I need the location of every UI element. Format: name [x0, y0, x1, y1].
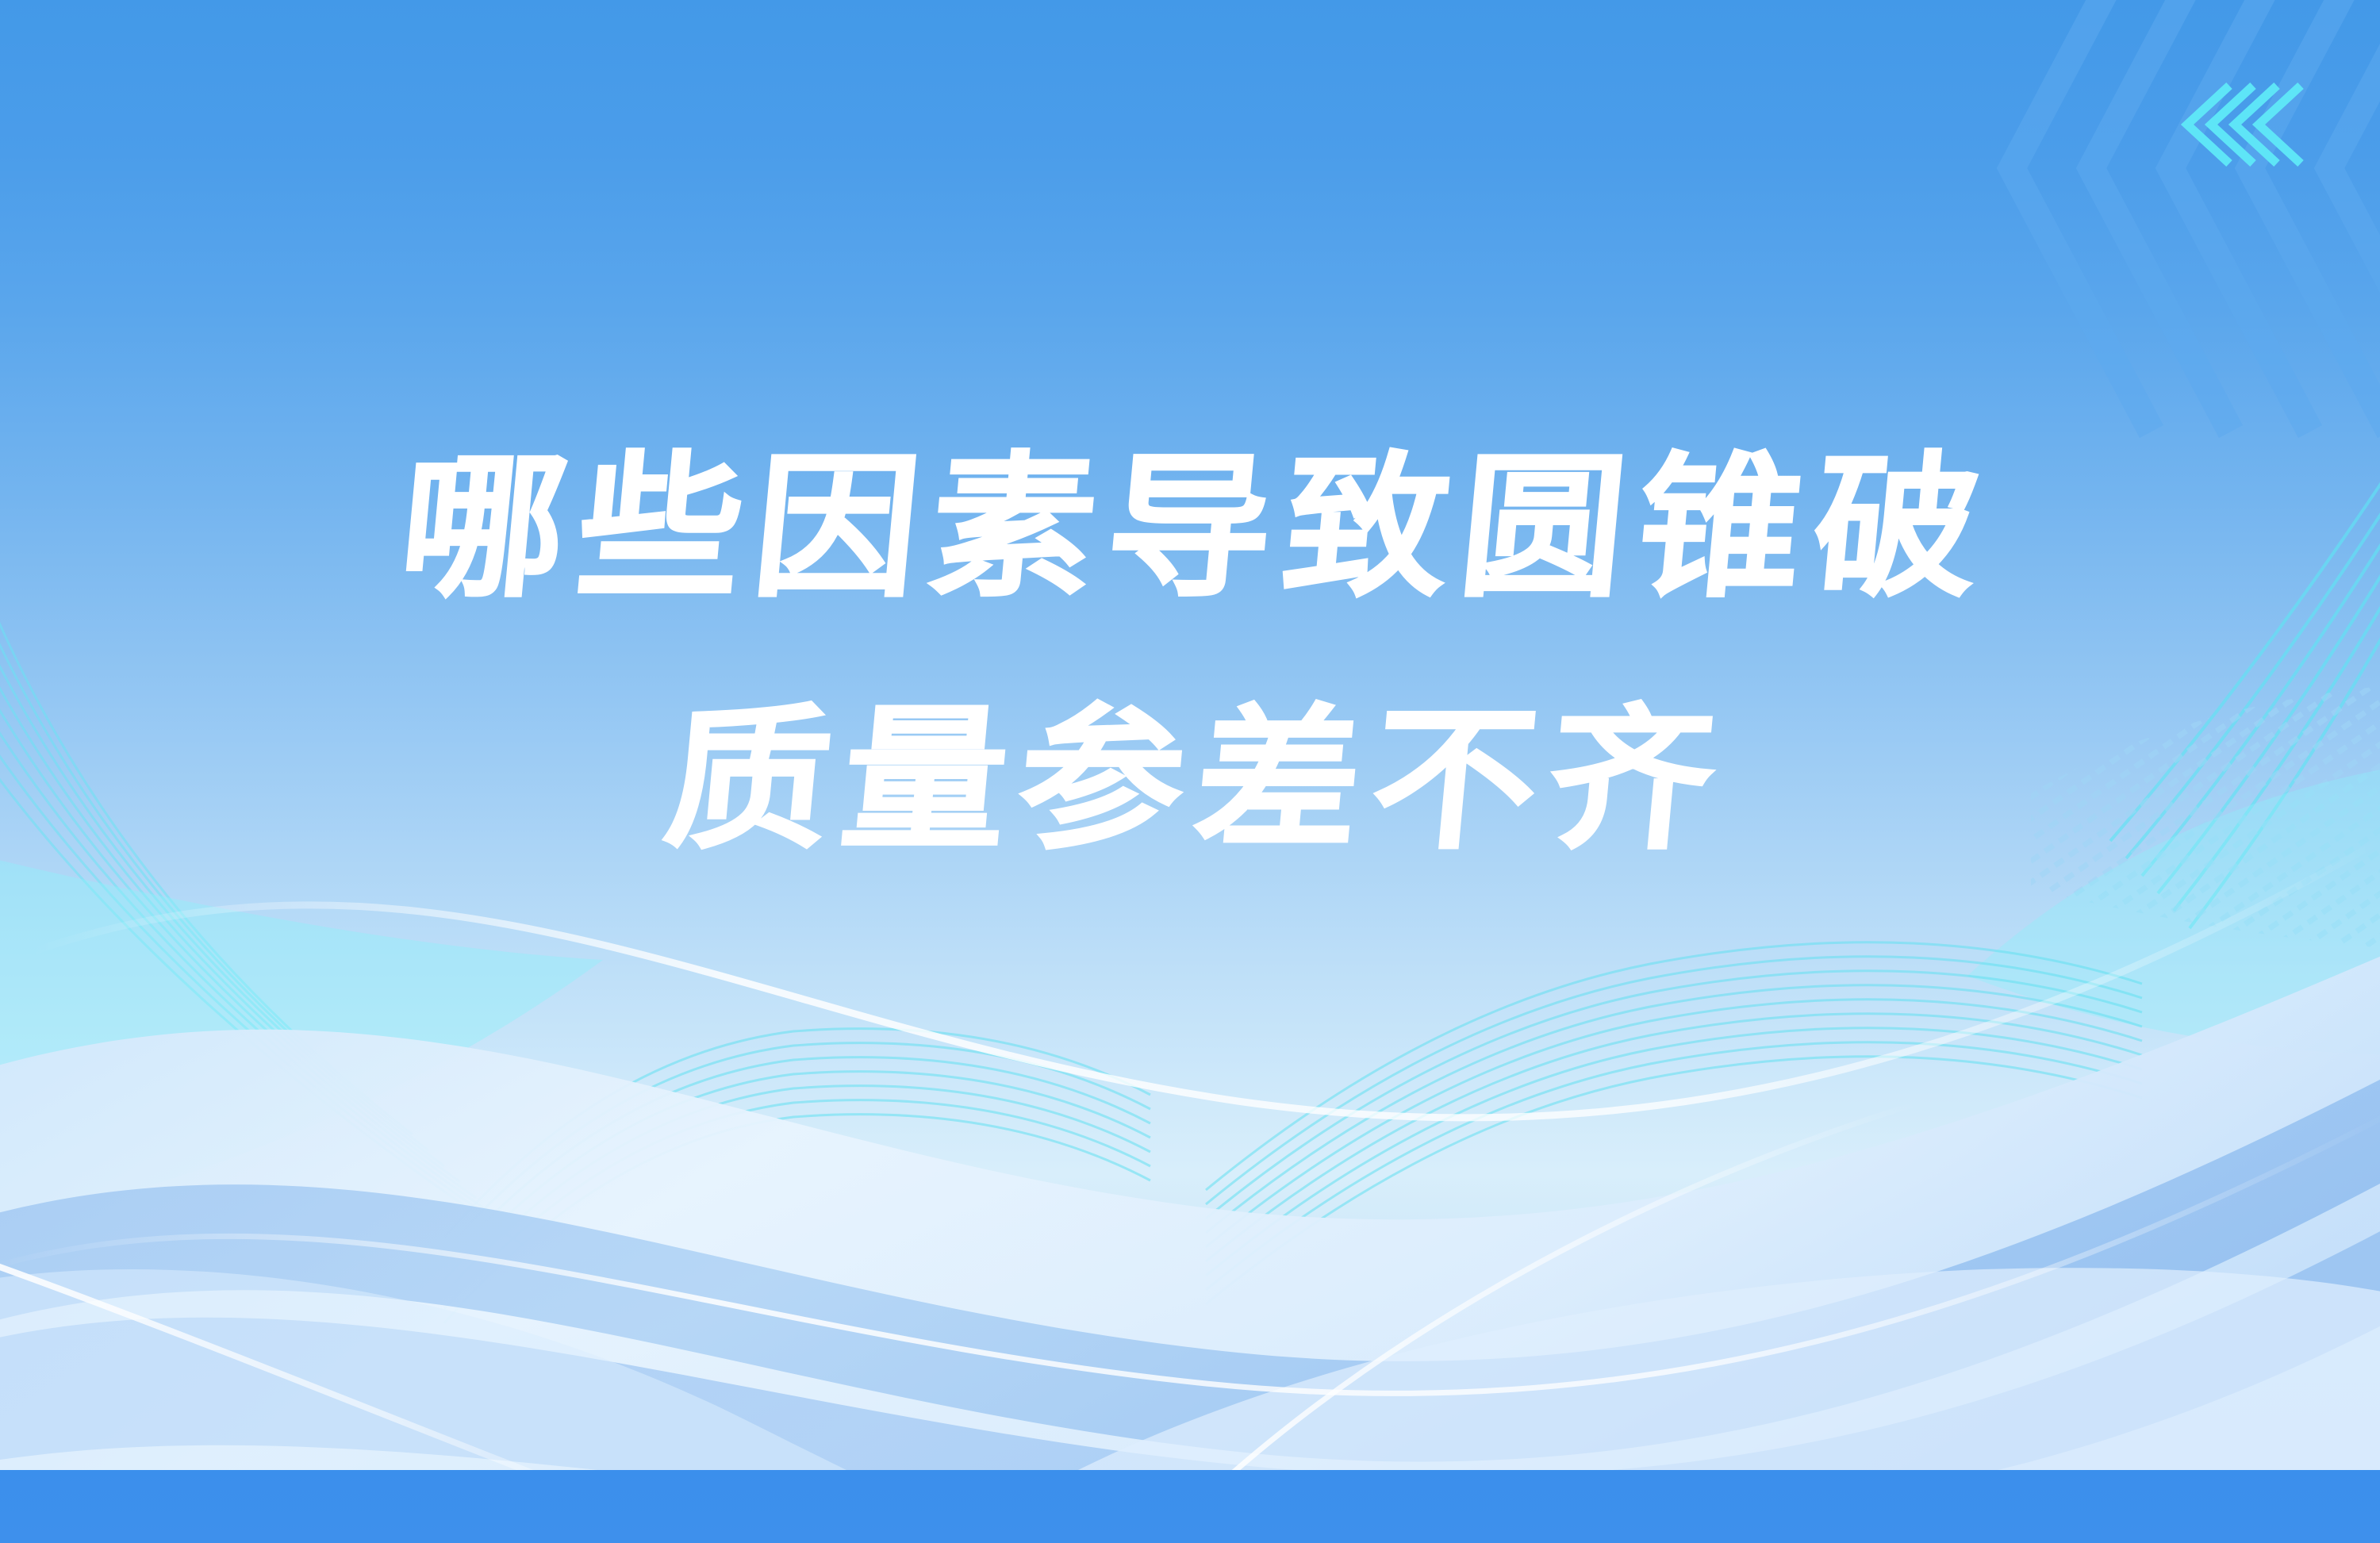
chevron-soft-1 — [2012, 0, 2152, 432]
chevron-bright-1 — [2187, 86, 2229, 163]
bottom-color-band — [0, 1470, 2380, 1543]
wave-pale-1 — [0, 936, 2380, 1543]
chevron-soft-2 — [2091, 0, 2231, 432]
chevron-soft-5 — [2329, 0, 2380, 432]
chevron-bright-3 — [2235, 86, 2277, 163]
headline-block: 哪些因素导致圆锥破 质量参差不齐 — [0, 451, 2380, 858]
chevron-soft-3 — [2171, 0, 2310, 432]
banner-root: 哪些因素导致圆锥破 质量参差不齐 — [0, 0, 2380, 1543]
wave-mid-1 — [0, 1055, 2380, 1462]
wave-highlight-1 — [32, 841, 2380, 1118]
chevron-bright-2 — [2211, 86, 2253, 163]
chevron-soft-4 — [2250, 0, 2380, 432]
wave-highlight-2 — [0, 1111, 2380, 1393]
headline-line-1: 哪些因素导致圆锥破 — [0, 451, 2380, 606]
chevron-bright-4 — [2259, 86, 2301, 163]
headline-line-2: 质量参差不齐 — [0, 703, 2380, 858]
